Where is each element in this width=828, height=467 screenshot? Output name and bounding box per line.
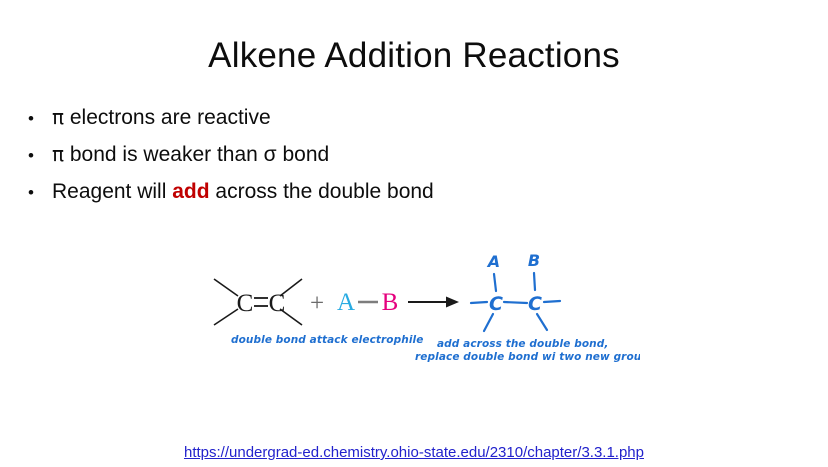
bullet-marker-icon: • <box>28 142 52 169</box>
product-carbon-left: C <box>489 293 503 315</box>
page-title: Alkene Addition Reactions <box>0 34 828 78</box>
pi-symbol: π <box>52 142 64 166</box>
emphasis-add: add <box>172 180 209 203</box>
annotation-left: double bond attack electrophile <box>231 334 423 346</box>
reactant-alkene <box>214 279 302 325</box>
reactant-carbon-left: C <box>237 290 254 317</box>
reagent-label-a: A <box>337 289 355 316</box>
source-url-link[interactable]: https://undergrad-ed.chemistry.ohio-stat… <box>184 444 644 461</box>
annotation-right-line-1: add across the double bond, <box>437 338 608 350</box>
reagent-label-b: B <box>382 289 399 316</box>
product-carbon-right: C <box>528 293 542 315</box>
list-item: • π bond is weaker than σ bond <box>28 141 788 169</box>
bullet-marker-icon: • <box>28 105 52 132</box>
slide-canvas: Alkene Addition Reactions • π electrons … <box>0 0 828 467</box>
product-substituent-b: B <box>528 251 540 270</box>
bullet-marker-icon: • <box>28 179 52 206</box>
reaction-arrow-icon <box>408 297 459 308</box>
list-item: • Reagent will add across the double bon… <box>28 178 788 206</box>
source-link-container: https://undergrad-ed.chemistry.ohio-stat… <box>0 443 828 463</box>
annotation-right-line-2: replace double bond wi two new groups <box>415 351 640 363</box>
list-item-body-after: across the double bond <box>210 180 434 203</box>
plus-sign-icon: + <box>310 290 324 317</box>
list-item: • π electrons are reactive <box>28 104 788 132</box>
reactant-carbon-right: C <box>269 290 286 317</box>
list-item-text: π electrons are reactive <box>52 104 271 131</box>
product-substituent-a: A <box>486 252 500 271</box>
list-item-text: π bond is weaker than σ bond <box>52 141 329 168</box>
pi-symbol: π <box>52 105 64 129</box>
list-item-body: bond is weaker than σ bond <box>64 143 329 166</box>
list-item-body: electrons are reactive <box>64 106 271 129</box>
bullet-list: • π electrons are reactive • π bond is w… <box>28 104 788 215</box>
product-structure <box>471 273 560 331</box>
list-item-body-before: Reagent will <box>52 180 172 203</box>
list-item-text: Reagent will add across the double bond <box>52 178 434 205</box>
reaction-scheme-figure: C C + A B <box>200 243 640 371</box>
